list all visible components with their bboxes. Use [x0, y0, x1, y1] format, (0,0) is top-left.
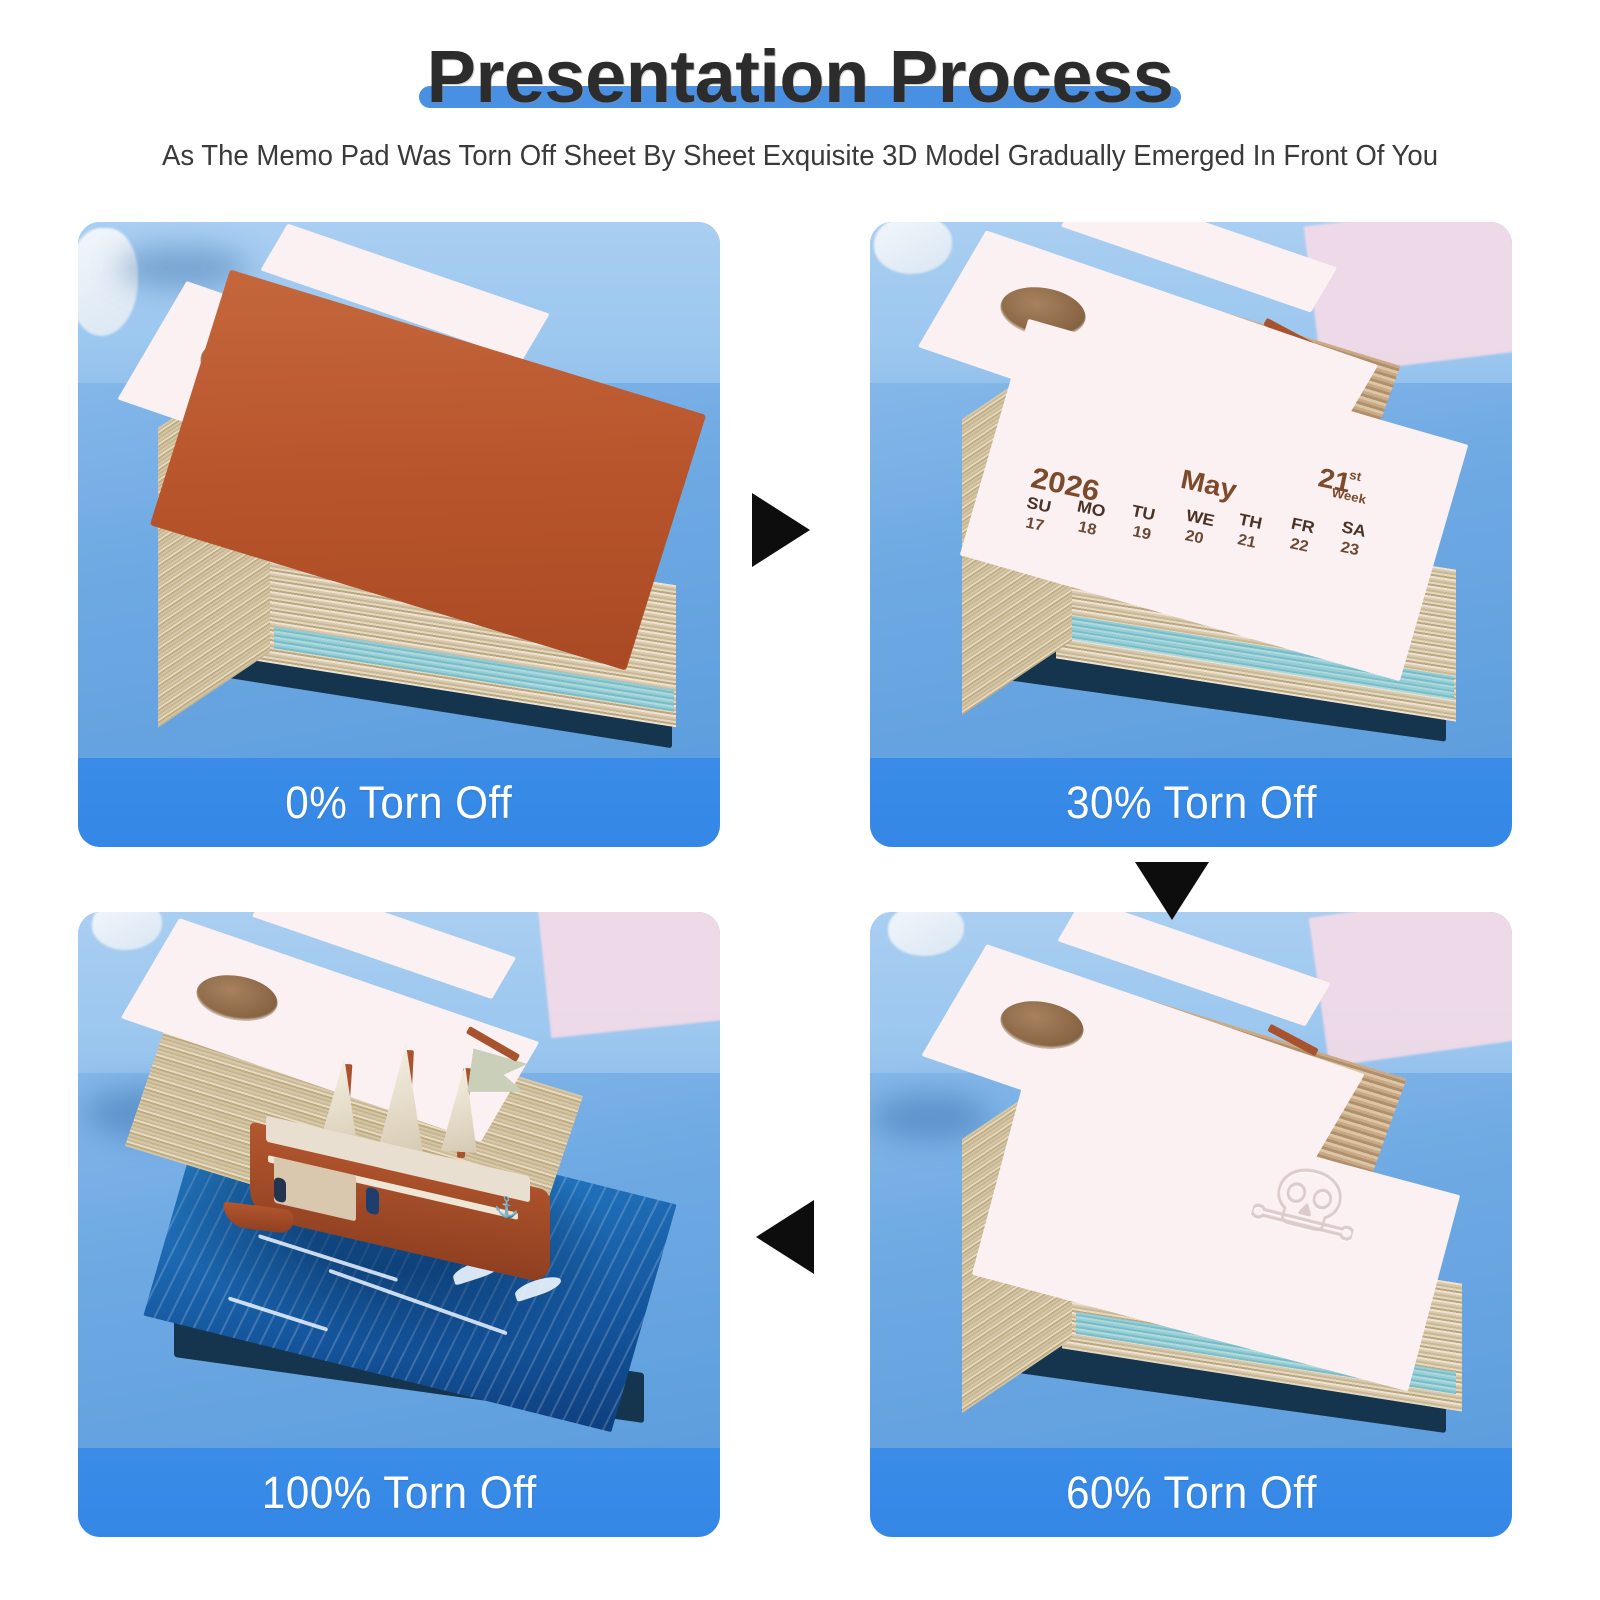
card-caption-text: 60% Torn Off [1066, 1467, 1317, 1519]
decor-pink-paper [538, 912, 720, 1038]
card-caption-text: 100% Torn Off [262, 1467, 537, 1519]
product-photo-100-percent: ⚓ [78, 912, 720, 1448]
page-title: Presentation Process [427, 35, 1174, 118]
process-card-0-percent[interactable]: 0% Torn Off [78, 222, 720, 847]
calendar-date-23: 23 [1339, 539, 1361, 560]
process-card-60-percent[interactable]: 60% Torn Off [870, 912, 1512, 1537]
card-caption-0-percent: 0% Torn Off [78, 758, 720, 847]
ship-crew-figure [274, 1177, 286, 1204]
calendar-date-20: 20 [1183, 528, 1205, 549]
calendar-day-header-th: TH [1237, 510, 1264, 534]
arrow-left-icon [756, 1200, 814, 1274]
process-card-100-percent[interactable]: ⚓ 100% Torn Off [78, 912, 720, 1537]
decor-pink-paper [1309, 912, 1512, 1067]
card-caption-60-percent: 60% Torn Off [870, 1448, 1512, 1537]
arrow-right-icon [752, 493, 810, 567]
arrow-down-icon [1135, 862, 1209, 920]
card-caption-100-percent: 100% Torn Off [78, 1448, 720, 1537]
product-photo-60-percent [870, 912, 1512, 1448]
calendar-day-header-sa: SA [1340, 518, 1368, 542]
card-caption-30-percent: 30% Torn Off [870, 758, 1512, 847]
product-photo-0-percent [78, 222, 720, 758]
calendar-date-22: 22 [1288, 536, 1310, 557]
card-caption-text: 30% Torn Off [1066, 777, 1317, 829]
ship-anchor-icon: ⚓ [494, 1195, 519, 1221]
process-card-grid: 0% Torn Off [0, 0, 1600, 1600]
ship-crew-figure [366, 1186, 379, 1215]
card-caption-text: 0% Torn Off [286, 777, 513, 829]
process-card-30-percent[interactable]: 2026 May 21 st Week SU MO TU WE TH FR SA… [870, 222, 1512, 847]
calendar-date-18: 18 [1076, 519, 1098, 540]
calendar-date-21: 21 [1236, 532, 1258, 553]
calendar-date-19: 19 [1131, 523, 1153, 544]
calendar-week-label: Week [1330, 485, 1367, 507]
calendar-date-17: 17 [1024, 515, 1046, 536]
calendar-day-header-su: SU [1025, 493, 1053, 517]
calendar-day-header-fr: FR [1289, 514, 1316, 538]
product-photo-30-percent: 2026 May 21 st Week SU MO TU WE TH FR SA… [870, 222, 1512, 758]
calendar-month: May [1178, 464, 1239, 506]
presentation-process-page: Presentation Process As The Memo Pad Was… [0, 0, 1600, 1600]
calendar-week-suffix: st [1348, 467, 1363, 484]
calendar-day-header-tu: TU [1130, 501, 1157, 525]
